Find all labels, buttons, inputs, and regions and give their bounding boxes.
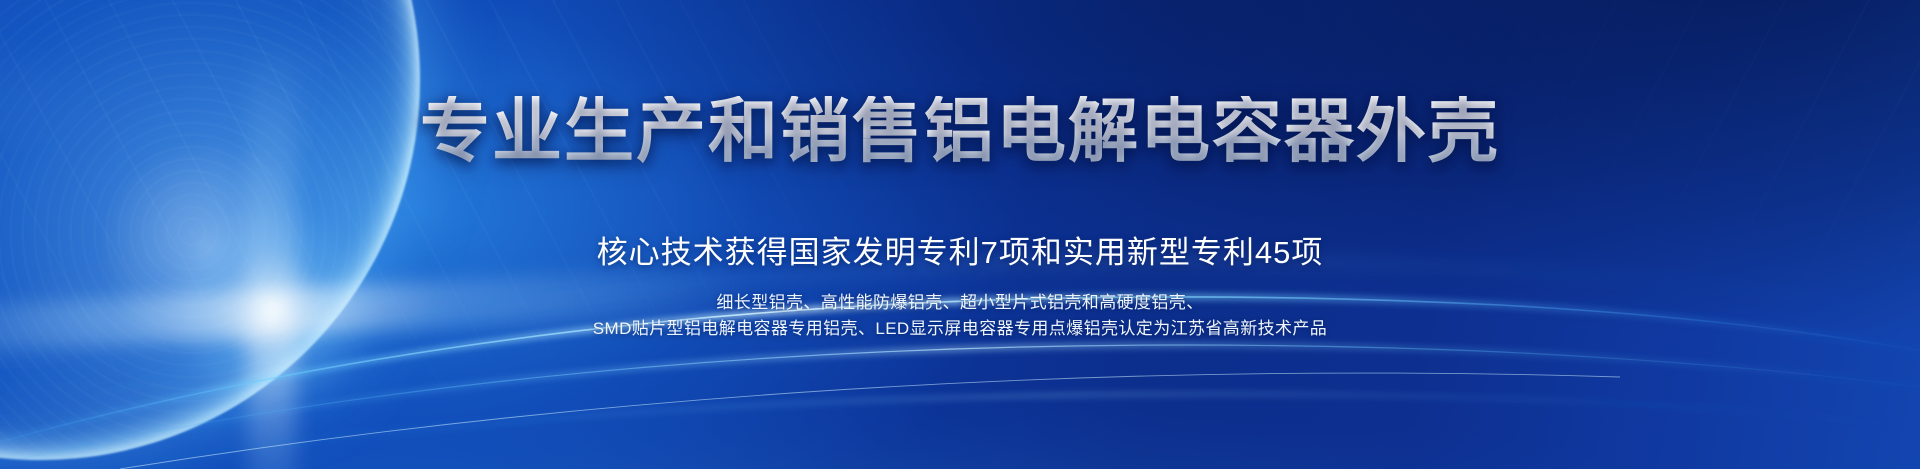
banner-content: 专业生产和销售铝电解电容器外壳 核心技术获得国家发明专利7项和实用新型专利45项… — [0, 0, 1920, 469]
hero-banner: 专业生产和销售铝电解电容器外壳 核心技术获得国家发明专利7项和实用新型专利45项… — [0, 0, 1920, 469]
banner-description: 细长型铝壳、高性能防爆铝壳、超小型片式铝壳和高硬度铝壳、 SMD贴片型铝电解电容… — [0, 290, 1920, 343]
page-title: 专业生产和销售铝电解电容器外壳 — [0, 96, 1920, 166]
banner-subtitle: 核心技术获得国家发明专利7项和实用新型专利45项 — [0, 234, 1920, 271]
banner-description-line-2: SMD贴片型铝电解电容器专用铝壳、LED显示屏电容器专用点爆铝壳认定为江苏省高新… — [0, 316, 1920, 342]
banner-description-line-1: 细长型铝壳、高性能防爆铝壳、超小型片式铝壳和高硬度铝壳、 — [0, 290, 1920, 316]
